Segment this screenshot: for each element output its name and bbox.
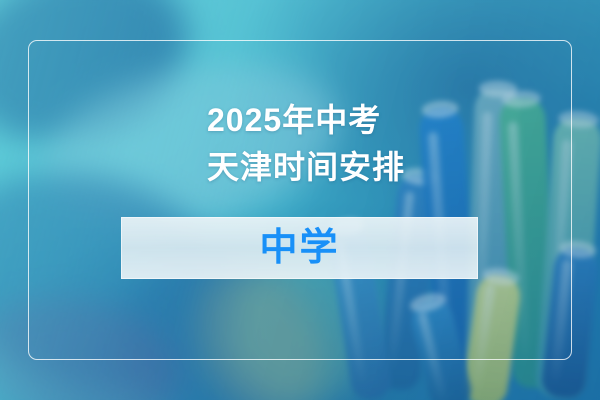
background-color-wash bbox=[0, 0, 600, 400]
banner-card: 2025年中考 天津时间安排 中学 bbox=[0, 0, 600, 400]
headline-line-2: 天津时间安排 bbox=[207, 144, 547, 191]
headline-block: 2025年中考 天津时间安排 bbox=[207, 97, 547, 191]
category-badge[interactable]: 中学 bbox=[121, 217, 478, 279]
headline-line-1: 2025年中考 bbox=[207, 97, 547, 144]
category-badge-label: 中学 bbox=[259, 229, 339, 267]
